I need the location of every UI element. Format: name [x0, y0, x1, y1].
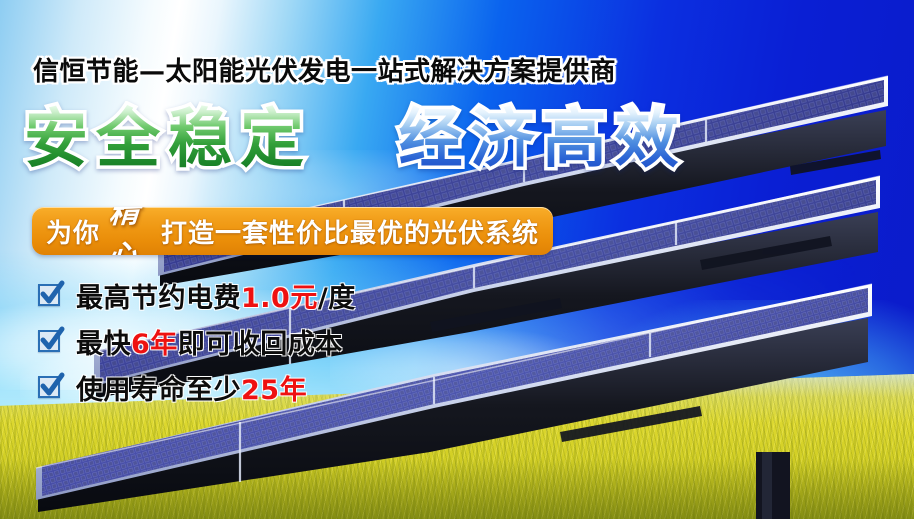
headline-green-segment: 安全稳定 安全稳定 — [24, 108, 312, 172]
sub-banner-prefix: 为你 — [46, 213, 100, 250]
benefit-post: 即可收回成本 — [178, 329, 343, 360]
checkbox-checked-icon — [38, 376, 60, 398]
banner-text-content: 信恒节能—太阳能光伏发电一站式解决方案提供商 安全稳定 安全稳定 经济高效 经济… — [0, 0, 914, 519]
list-item: 最快6年即可收回成本 — [38, 318, 356, 364]
headline-green-fill: 安全稳定 — [24, 103, 312, 177]
sub-banner: 为你 精心 打造一套性价比最优的光伏系统 — [32, 207, 553, 255]
benefit-pre: 最快 — [76, 329, 131, 360]
benefit-text: 最快6年即可收回成本 — [76, 322, 343, 361]
benefit-highlight: 6年 — [131, 329, 178, 360]
headline-blue-fill: 经济高效 — [399, 103, 687, 177]
benefit-highlight: 1.0元 — [241, 283, 318, 314]
headline: 安全稳定 安全稳定 经济高效 经济高效 — [24, 108, 687, 172]
benefit-pre: 使用寿命至少 — [76, 375, 241, 406]
sub-banner-suffix: 打造一套性价比最优的光伏系统 — [161, 213, 539, 250]
benefit-highlight: 25年 — [241, 375, 307, 406]
checkbox-checked-icon — [38, 330, 60, 352]
solar-energy-promo-banner: 信恒节能—太阳能光伏发电一站式解决方案提供商 安全稳定 安全稳定 经济高效 经济… — [0, 0, 914, 519]
benefit-pre: 最高节约电费 — [76, 283, 241, 314]
list-item: 使用寿命至少25年 — [38, 364, 356, 410]
benefit-text: 最高节约电费1.0元/度 — [76, 276, 356, 315]
checkbox-checked-icon — [38, 284, 60, 306]
benefit-text: 使用寿命至少25年 — [76, 368, 307, 407]
list-item: 最高节约电费1.0元/度 — [38, 272, 356, 318]
benefit-post: /度 — [318, 283, 356, 314]
company-tagline: 信恒节能—太阳能光伏发电一站式解决方案提供商 — [33, 51, 616, 88]
headline-blue-segment: 经济高效 经济高效 — [399, 108, 687, 172]
benefit-list: 最高节约电费1.0元/度 最快6年即可收回成本 使用寿命至少25年 — [38, 272, 356, 410]
sub-banner-brush-text: 精心 — [97, 207, 164, 255]
